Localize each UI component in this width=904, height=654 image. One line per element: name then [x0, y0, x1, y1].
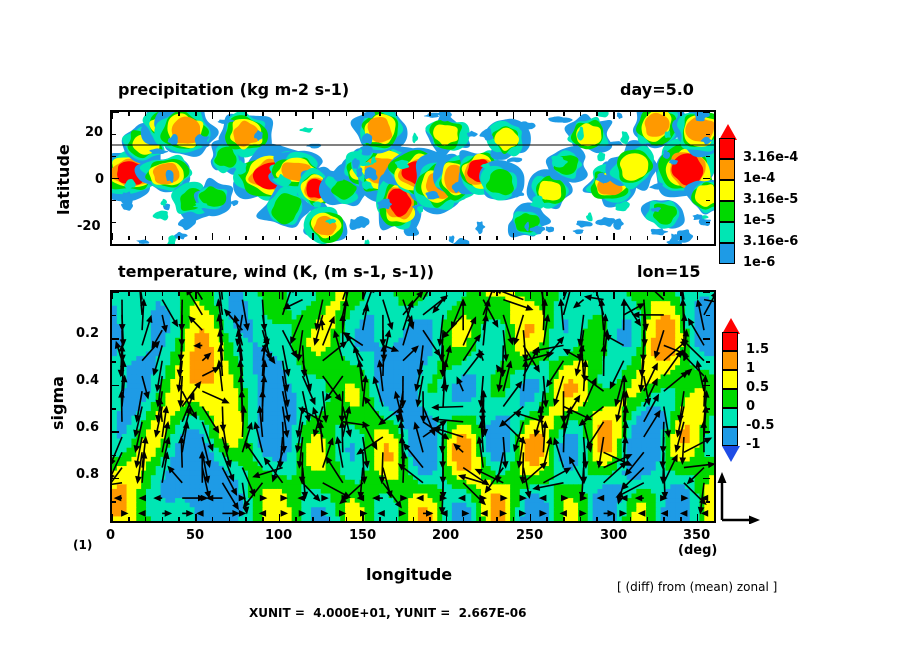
colorbar-swatch	[719, 138, 735, 159]
temp-ylabel: sigma	[48, 376, 67, 430]
sigma-tick-0-8: 0.8	[76, 467, 99, 482]
xaxis-label: longitude	[366, 565, 452, 584]
colorbar-label: 0.5	[746, 380, 769, 395]
colorbar-swatch	[719, 201, 735, 222]
precip-title: precipitation (kg m-2 s-1)	[118, 80, 349, 99]
colorbar-label: 3.16e-6	[743, 234, 798, 249]
colorbar-swatch	[722, 389, 738, 408]
diff-note: [ (diff) from (mean) zonal ]	[617, 580, 777, 594]
sigma-tick-0-2: 0.2	[76, 326, 99, 341]
precip-ytick-minus20: -20	[77, 219, 101, 234]
day-label: day=5.0	[620, 80, 694, 99]
lon-tick-300: 300	[600, 528, 627, 543]
lon-label: lon=15	[637, 262, 701, 281]
lon-tick-150: 150	[349, 528, 376, 543]
colorbar-swatch	[719, 243, 735, 264]
precipitation-contours	[112, 112, 714, 244]
temperature-colorbar[interactable]: 1.510.50-0.5-1	[722, 318, 782, 472]
temp-title: temperature, wind (K, (m s-1, s-1))	[118, 262, 434, 281]
colorbar-swatch	[719, 222, 735, 243]
precip-ytick-0: 0	[95, 172, 104, 187]
colorbar-label: 3.16e-5	[743, 192, 798, 207]
colorbar-label: -1	[746, 437, 760, 452]
sigma-tick-0-6: 0.6	[76, 420, 99, 435]
colorbar-swatch	[719, 180, 735, 201]
temperature-wind-plot[interactable]	[110, 290, 716, 523]
precipitation-plot[interactable]	[110, 110, 716, 246]
temperature-contours-and-vectors	[112, 292, 714, 521]
lon-tick-0: 0	[106, 528, 115, 543]
figure-canvas: precipitation (kg m-2 s-1) day=5.0 latit…	[0, 0, 904, 654]
colorbar-swatch	[719, 159, 735, 180]
colorbar-label: -0.5	[746, 418, 774, 433]
colorbar-label: 3.16e-4	[743, 150, 798, 165]
colorbar-label: 1e-6	[743, 255, 775, 270]
lon-tick-200: 200	[432, 528, 459, 543]
colorbar-label: 1	[746, 361, 755, 376]
sigma-tick-0-4: 0.4	[76, 373, 99, 388]
reference-vector-key	[714, 470, 762, 524]
colorbar-label: 1e-5	[743, 213, 775, 228]
precip-ytick-20: 20	[85, 125, 103, 140]
colorbar-label: 1e-4	[743, 171, 775, 186]
colorbar-swatch	[722, 332, 738, 351]
lon-tick-100: 100	[265, 528, 292, 543]
lon-tick-50: 50	[186, 528, 204, 543]
colorbar-swatch	[722, 408, 738, 427]
colorbar-swatch	[722, 370, 738, 389]
colorbar-swatch	[722, 351, 738, 370]
colorbar-swatch	[722, 427, 738, 446]
lon-tick-250: 250	[516, 528, 543, 543]
lon-axis-units: (deg)	[678, 543, 717, 558]
unit-footer: XUNIT = 4.000E+01, YUNIT = 2.667E-06	[249, 606, 526, 620]
lon-tick-350: 350	[683, 528, 710, 543]
colorbar-label: 1.5	[746, 342, 769, 357]
colorbar-label: 0	[746, 399, 755, 414]
colorbar-bottom-arrow	[722, 446, 740, 462]
precipitation-colorbar[interactable]: 3.16e-41e-43.16e-51e-53.16e-61e-6	[719, 124, 779, 290]
precip-ylabel: latitude	[54, 144, 73, 215]
panel-index-label: (1)	[73, 538, 92, 552]
